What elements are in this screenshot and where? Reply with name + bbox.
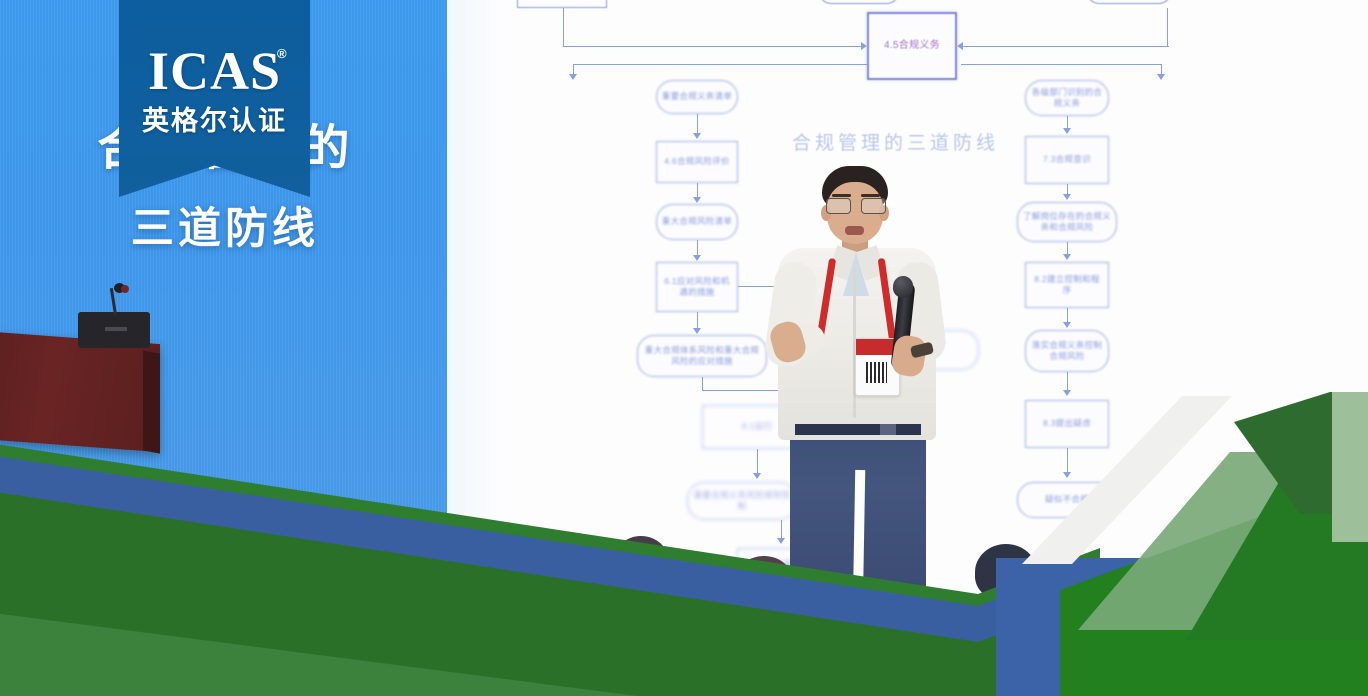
flowchart-arrow-icon bbox=[693, 255, 701, 261]
flowchart-node-major-risk-list: 重大合规风险清单 bbox=[656, 204, 738, 240]
speaker-belt-buckle bbox=[880, 424, 896, 435]
flowchart-arrow-icon bbox=[693, 133, 701, 139]
flowchart-caption: 合规管理的三道防线 bbox=[792, 128, 999, 155]
flowchart-arrow-icon bbox=[753, 473, 761, 479]
flowchart-connector bbox=[961, 64, 1161, 65]
flowchart-connector bbox=[573, 64, 867, 65]
flowchart-connector bbox=[1167, 8, 1168, 46]
qr-code-icon bbox=[866, 362, 887, 383]
overlay-pale-green-edge bbox=[1332, 392, 1368, 542]
flowchart-arrow-icon bbox=[1063, 254, 1071, 260]
gooseneck-microphone-windscreen bbox=[121, 285, 129, 293]
glasses-icon bbox=[826, 198, 884, 213]
flowchart-arrow-icon bbox=[1063, 390, 1071, 396]
presentation-photo: 合规管理的 三道防线 ICAS ® 英格尔认证 合规管理的三道防线 4.5合规义… bbox=[0, 0, 1368, 696]
flowchart-node-partial-left bbox=[517, 0, 607, 8]
flowchart-arrow-icon bbox=[1063, 128, 1071, 134]
podium-console-led bbox=[105, 327, 127, 331]
speaker-badge-header bbox=[856, 339, 897, 355]
speaker-eyebrow-left bbox=[832, 194, 851, 197]
flowchart-arrow-icon bbox=[569, 74, 577, 80]
flowchart-connector bbox=[702, 377, 703, 390]
flowchart-node-important-obligation-list: 重要合规义务清单 bbox=[656, 80, 738, 114]
flowchart-arrow-icon bbox=[777, 538, 785, 544]
flowchart-node-raise-concerns: 8.3提出疑虑 bbox=[1025, 400, 1109, 448]
flowchart-arrow-icon bbox=[957, 42, 963, 50]
icas-chinese-name: 英格尔认证 bbox=[119, 99, 310, 138]
podium bbox=[0, 332, 160, 452]
flowchart-arrow-icon bbox=[861, 42, 867, 50]
flowchart-arrow-icon bbox=[1157, 74, 1165, 80]
slide-title-line2: 三道防线 bbox=[60, 208, 390, 251]
flowchart-node-partial-right bbox=[1087, 0, 1171, 4]
flowchart-node-establish-controls: 8.2建立控制和程序 bbox=[1025, 262, 1109, 308]
flowchart-connector bbox=[961, 46, 1169, 47]
registered-trademark-icon: ® bbox=[277, 46, 287, 61]
flowchart-node-post-obligations: 了解岗位存在的合规义务和合规风险 bbox=[1017, 202, 1117, 242]
flowchart-arrow-icon bbox=[1063, 322, 1071, 328]
flowchart-node-obligation-controlled: 重要合规义务风险得到控制 bbox=[687, 482, 797, 520]
speaker-eyebrow-right bbox=[861, 194, 880, 197]
flowchart-node-risk-measures: 6.1应对风险和机遇的措施 bbox=[656, 262, 738, 312]
flowchart-node-major-system-measures: 重大合规体系风险和重大合规风险的应对措施 bbox=[637, 335, 767, 377]
flowchart-connector bbox=[563, 8, 564, 46]
flowchart-node-compliance-awareness: 7.3合规意识 bbox=[1025, 136, 1109, 184]
flowchart-node-compliance-obligation: 4.5合规义务 bbox=[867, 12, 957, 80]
speaker-belt bbox=[795, 424, 921, 435]
flowchart-arrow-icon bbox=[693, 197, 701, 203]
flowchart-node-implement-controls: 落实合规义务控制合规风险 bbox=[1025, 330, 1109, 372]
speaker-mouth bbox=[845, 226, 864, 235]
flowchart-node-risk-evaluation: 4.6合规风险评价 bbox=[656, 141, 738, 183]
flowchart-node-partial-top bbox=[819, 0, 899, 4]
podium-side-panel bbox=[143, 350, 160, 453]
flowchart-arrow-icon bbox=[693, 328, 701, 334]
flowchart-arrow-icon bbox=[1063, 472, 1071, 478]
flowchart-node-department-obligations: 各级部门识别的合规义务 bbox=[1025, 80, 1109, 116]
flowchart-arrow-icon bbox=[1063, 194, 1071, 200]
flowchart-connector bbox=[563, 46, 863, 47]
